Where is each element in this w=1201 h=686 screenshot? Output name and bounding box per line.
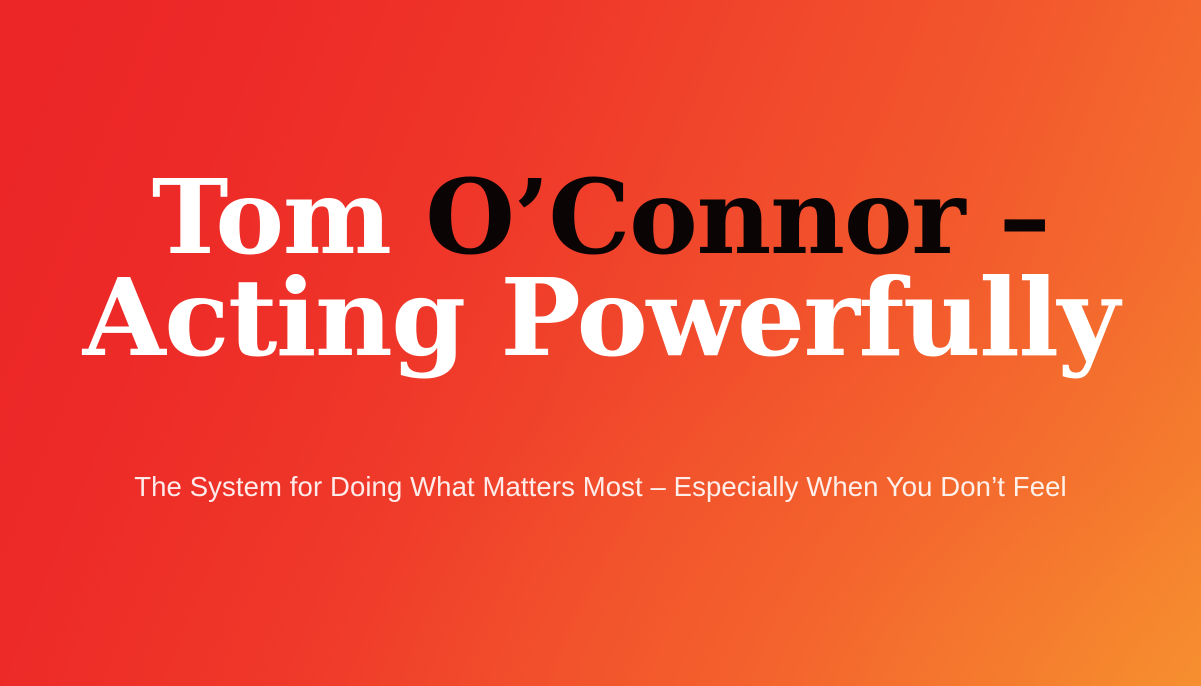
slide-title: Tom O’Connor – Acting Powerfully	[0, 167, 1201, 369]
title-line-1: Tom O’Connor –	[0, 167, 1201, 268]
slide-subtitle: The System for Doing What Matters Most –…	[0, 469, 1201, 505]
title-line-2: Acting Powerfully	[0, 268, 1201, 369]
title-slide: Tom O’Connor – Acting Powerfully The Sys…	[0, 0, 1201, 686]
slide-content: Tom O’Connor – Acting Powerfully The Sys…	[0, 0, 1201, 686]
